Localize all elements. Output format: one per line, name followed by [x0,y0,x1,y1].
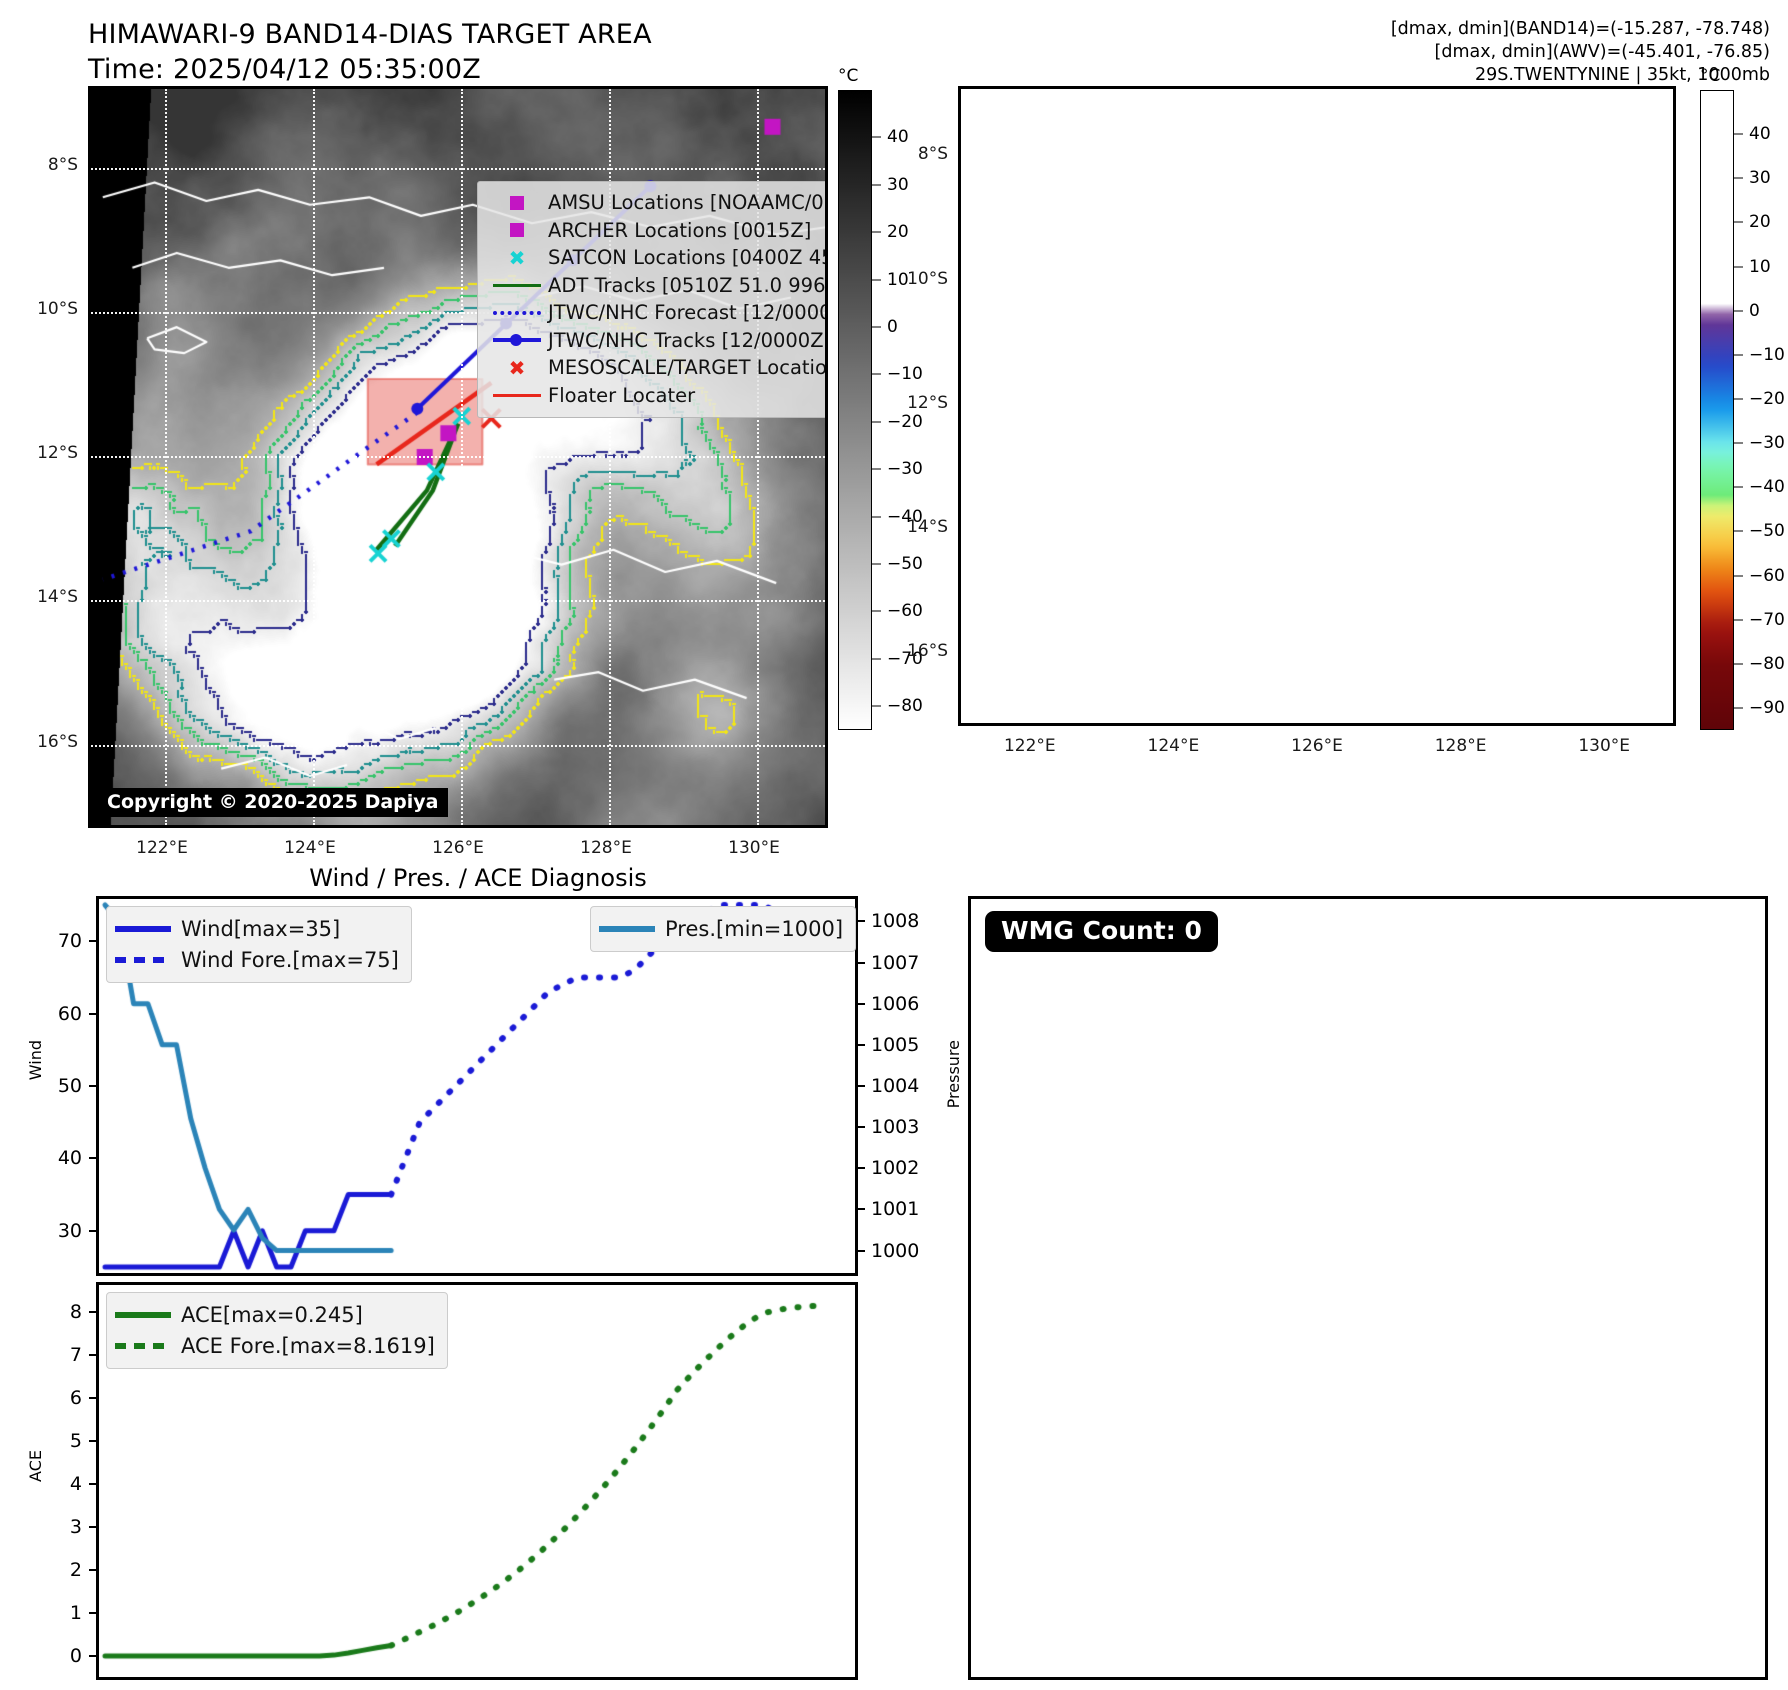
colorbar-tick-label: −50 [887,554,923,574]
colorbar-tick-label: −10 [887,364,923,384]
colorbar-tickmark [1734,222,1743,223]
lon-label: 130°E [728,838,780,858]
y-tickmark [89,1311,99,1313]
solid-line-icon [115,926,171,932]
colorbar-tickmark [872,706,881,707]
stat-awv-range: [dmax, dmin](AWV)=(-45.401, -76.85) [1391,41,1770,64]
y-tickmark [89,1354,99,1356]
colorbar-tickmark [872,516,881,517]
square-marker-icon [510,223,524,237]
legend-row: AMSU Locations [NOAAMC/0107Z 46 998] [486,189,828,217]
colorbar-tickmark [1734,707,1743,708]
x-marker-icon: ✖ [509,358,526,378]
awv-colorbar [1700,90,1734,730]
colorbar-tickmark [872,374,881,375]
pressure-tick-label: 1007 [871,952,919,974]
colorbar-tick-label: −80 [1749,654,1785,674]
ir-colorbar [838,90,872,730]
colorbar-tick-label: 10 [1749,257,1771,277]
lon-label: 130°E [1578,736,1630,756]
diagnosis-title: Wind / Pres. / ACE Diagnosis [309,864,647,892]
lon-label: 122°E [1004,736,1056,756]
y2-tickmark [855,920,865,922]
colorbar-tick-label: 20 [1749,212,1771,232]
pressure-tick-label: 1000 [871,1240,919,1262]
colorbar-tick-label: 0 [887,317,898,337]
lat-label: 16°S [882,641,948,661]
colorbar-tick-label: −70 [1749,610,1785,630]
pressure-axis-title: Pressure [944,1040,963,1108]
legend-row: ✖SATCON Locations [0400Z 45 998] [486,244,828,272]
legend-row: Pres.[min=1000] [599,913,843,944]
colorbar-tickmark [1734,619,1743,620]
wind-tick-label: 70 [58,930,82,952]
copyright-notice: Copyright © 2020-2025 Dapiya [101,788,448,817]
y2-tickmark [855,1167,865,1169]
colorbar-tick-label: −60 [887,601,923,621]
y-tickmark [89,1569,99,1571]
legend-label: AMSU Locations [NOAAMC/0107Z 46 998] [548,191,828,214]
page-timestamp: Time: 2025/04/12 05:35:00Z [88,53,652,88]
legend-row: Floater Locater [486,382,828,410]
legend-row: ACE Fore.[max=8.1619] [115,1330,435,1361]
legend-label: MESOSCALE/TARGET Location [548,356,828,379]
y2-tickmark [855,1208,865,1210]
legend-label: ADT Tracks [0510Z 51.0 996.9] [548,274,828,297]
lon-label: 124°E [1148,736,1200,756]
pressure-tick-label: 1006 [871,993,919,1015]
lat-label: 8°S [882,144,948,164]
colorbar-tickmark [1734,266,1743,267]
legend-label: ARCHER Locations [0015Z] [548,219,811,242]
infrared-legend: AMSU Locations [NOAAMC/0107Z 46 998]ARCH… [477,181,828,418]
colorbar-tick-label: −20 [1749,389,1785,409]
colorbar-tickmark [1734,354,1743,355]
colorbar-tickmark [1734,575,1743,576]
pressure-legend: Pres.[min=1000] [590,906,856,952]
y-tickmark [89,1230,99,1232]
legend-row: ADT Tracks [0510Z 51.0 996.9] [486,272,828,300]
lon-label: 126°E [1291,736,1343,756]
lat-label: 8°S [12,155,78,175]
solid-line-icon [115,1312,171,1318]
colorbar-tickmark [872,658,881,659]
legend-row: ✖MESOSCALE/TARGET Location [486,354,828,382]
colorbar-tickmark [872,279,881,280]
infrared-map-panel[interactable]: AMSU Locations [NOAAMC/0107Z 46 998]ARCH… [88,86,828,828]
lon-label: 124°E [284,838,336,858]
y2-tickmark [855,1085,865,1087]
pressure-tick-label: 1003 [871,1116,919,1138]
y2-tickmark [855,1250,865,1252]
wmg-panel[interactable]: WMG Count: 0 [968,896,1768,1680]
legend-label: ACE Fore.[max=8.1619] [181,1334,435,1358]
wind-legend: Wind[max=35]Wind Fore.[max=75] [106,906,412,983]
colorbar-tick-label: −80 [887,696,923,716]
legend-label: Floater Locater [548,384,695,407]
colorbar-tickmark [1734,443,1743,444]
dotted-line-icon [493,311,541,315]
colorbar-tickmark [872,184,881,185]
ace-axis-title: ACE [26,1450,45,1482]
line-with-dot-icon [493,338,541,342]
legend-row: JTWC/NHC Tracks [12/0000Z] [486,327,828,355]
awv-image [958,86,1676,726]
page-title: HIMAWARI-9 BAND14-DIAS TARGET AREA [88,18,652,53]
dotted-line-icon [115,1343,171,1349]
ace-tick-label: 4 [70,1473,82,1495]
legend-row: JTWC/NHC Forecast [12/0000Z] [486,299,828,327]
colorbar-tick-label: −60 [1749,566,1785,586]
ace-tick-label: 7 [70,1344,82,1366]
colorbar-tickmark [1734,310,1743,311]
solid-line-icon [493,284,541,287]
y-tickmark [89,1397,99,1399]
colorbar-tickmark [872,564,881,565]
ace-tick-label: 2 [70,1559,82,1581]
wmg-image [968,896,1768,1680]
pressure-tick-label: 1002 [871,1157,919,1179]
y-tickmark [89,1483,99,1485]
colorbar-tickmark [872,469,881,470]
solid-line-icon [493,394,541,397]
ace-tick-label: 6 [70,1387,82,1409]
x-marker-icon: ✖ [509,248,526,268]
colorbar-tickmark [1734,398,1743,399]
ir-colorbar-unit: °C [838,66,858,86]
colorbar-tick-label: 40 [1749,124,1771,144]
legend-label: ACE[max=0.245] [181,1303,363,1327]
y-tickmark [89,1526,99,1528]
wind-tick-label: 30 [58,1220,82,1242]
legend-label: JTWC/NHC Forecast [12/0000Z] [548,301,828,324]
wind-tick-label: 50 [58,1075,82,1097]
legend-row: ACE[max=0.245] [115,1299,435,1330]
legend-label: Wind Fore.[max=75] [181,948,399,972]
wmg-count-badge: WMG Count: 0 [985,911,1218,952]
colorbar-tickmark [872,611,881,612]
y-tickmark [89,1013,99,1015]
colorbar-tick-label: 20 [887,222,909,242]
pressure-tick-label: 1004 [871,1075,919,1097]
ace-tick-label: 3 [70,1516,82,1538]
page-title-block: HIMAWARI-9 BAND14-DIAS TARGET AREA Time:… [88,18,652,87]
pressure-tick-label: 1005 [871,1034,919,1056]
colorbar-tick-label: 0 [1749,301,1760,321]
colorbar-tickmark [1734,178,1743,179]
lon-label: 122°E [136,838,188,858]
colorbar-tick-label: 30 [887,175,909,195]
lon-label: 126°E [432,838,484,858]
lon-label: 128°E [1435,736,1487,756]
colorbar-tickmark [872,421,881,422]
colorbar-tickmark [872,232,881,233]
colorbar-tick-label: −20 [887,412,923,432]
y2-tickmark [855,1003,865,1005]
colorbar-tickmark [1734,663,1743,664]
colorbar-tick-label: −40 [1749,477,1785,497]
lat-label: 10°S [12,299,78,319]
lat-label: 10°S [882,269,948,289]
colorbar-tickmark [1734,134,1743,135]
legend-label: Pres.[min=1000] [665,917,843,941]
y2-tickmark [855,1044,865,1046]
stat-band14-range: [dmax, dmin](BAND14)=(-15.287, -78.748) [1391,18,1770,41]
legend-row: Wind[max=35] [115,913,399,944]
y2-tickmark [855,962,865,964]
lat-label: 16°S [12,732,78,752]
lat-label: 12°S [882,393,948,413]
awv-map-panel[interactable] [958,86,1676,726]
colorbar-tick-label: −30 [1749,433,1785,453]
colorbar-tickmark [1734,531,1743,532]
ace-tick-label: 0 [70,1645,82,1667]
colorbar-tick-label: −10 [1749,345,1785,365]
lat-label: 12°S [12,443,78,463]
legend-label: JTWC/NHC Tracks [12/0000Z] [548,329,828,352]
legend-label: Wind[max=35] [181,917,340,941]
colorbar-tick-label: −90 [1749,698,1785,718]
y2-tickmark [855,1126,865,1128]
colorbar-tickmark [872,137,881,138]
colorbar-tick-label: −50 [1749,521,1785,541]
legend-label: SATCON Locations [0400Z 45 998] [548,246,828,269]
wind-axis-title: Wind [26,1040,45,1080]
y-tickmark [89,1157,99,1159]
solid-line-icon [599,926,655,932]
pressure-tick-label: 1001 [871,1198,919,1220]
y-tickmark [89,1655,99,1657]
wind-tick-label: 60 [58,1003,82,1025]
ace-tick-label: 8 [70,1301,82,1323]
square-marker-icon [510,196,524,210]
awv-colorbar-unit: °C [1700,66,1720,86]
lat-label: 14°S [12,587,78,607]
legend-row: Wind Fore.[max=75] [115,944,399,975]
y-tickmark [89,1612,99,1614]
y-tickmark [89,1440,99,1442]
colorbar-tickmark [872,327,881,328]
ace-tick-label: 1 [70,1602,82,1624]
ace-legend: ACE[max=0.245]ACE Fore.[max=8.1619] [106,1292,448,1369]
colorbar-tick-label: 30 [1749,168,1771,188]
dotted-line-icon [115,957,171,963]
colorbar-tickmark [1734,487,1743,488]
ace-tick-label: 5 [70,1430,82,1452]
y-tickmark [89,1085,99,1087]
pressure-tick-label: 1008 [871,910,919,932]
colorbar-tick-label: −30 [887,459,923,479]
y-tickmark [89,940,99,942]
wind-tick-label: 40 [58,1147,82,1169]
lat-label: 14°S [882,517,948,537]
legend-row: ARCHER Locations [0015Z] [486,217,828,245]
lon-label: 128°E [580,838,632,858]
